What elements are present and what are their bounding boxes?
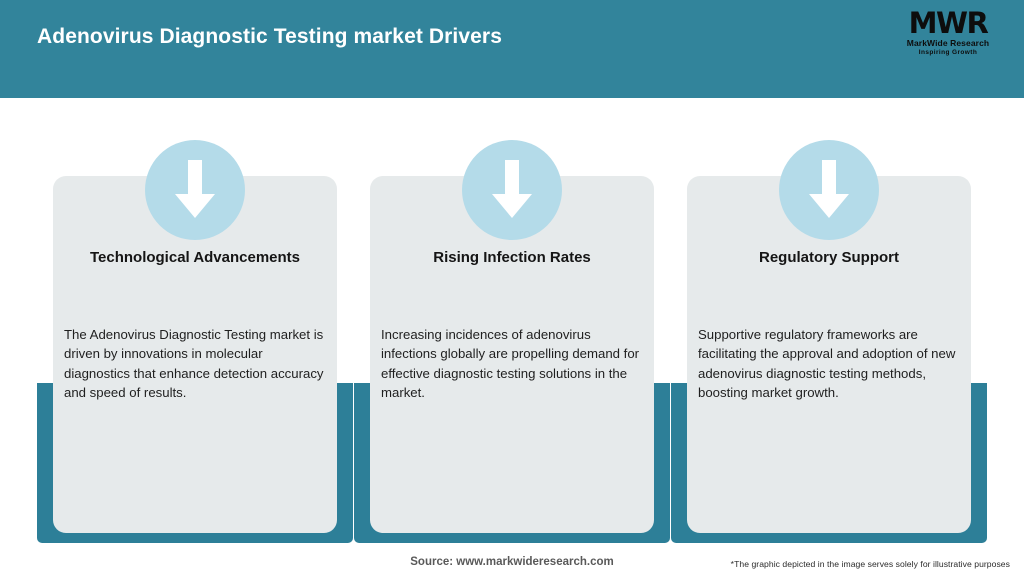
card-title: Technological Advancements [59,248,331,268]
card-title: Regulatory Support [693,248,965,268]
card-body-text: The Adenovirus Diagnostic Testing market… [64,325,330,403]
logo-monogram: MWR [894,8,1002,38]
logo-company-name: MarkWide Research [894,38,1002,48]
page-title: Adenovirus Diagnostic Testing market Dri… [37,22,797,52]
footer-disclaimer: *The graphic depicted in the image serve… [731,559,1010,569]
card-body-text: Increasing incidences of adenovirus infe… [381,325,647,403]
logo-tagline: Inspiring Growth [894,48,1002,57]
driver-cards-container: Technological Advancements The Adenoviru… [0,98,1024,548]
header-band: Adenovirus Diagnostic Testing market Dri… [0,0,1024,98]
driver-card-2: Rising Infection Rates Increasing incide… [354,98,670,548]
brand-logo: MWR MarkWide Research Inspiring Growth [894,8,1002,60]
card-title: Rising Infection Rates [376,248,648,268]
down-arrow-icon [779,140,879,240]
down-arrow-icon [462,140,562,240]
driver-card-3: Regulatory Support Supportive regulatory… [671,98,987,548]
down-arrow-icon [145,140,245,240]
driver-card-1: Technological Advancements The Adenoviru… [37,98,353,548]
card-body-text: Supportive regulatory frameworks are fac… [698,325,964,403]
